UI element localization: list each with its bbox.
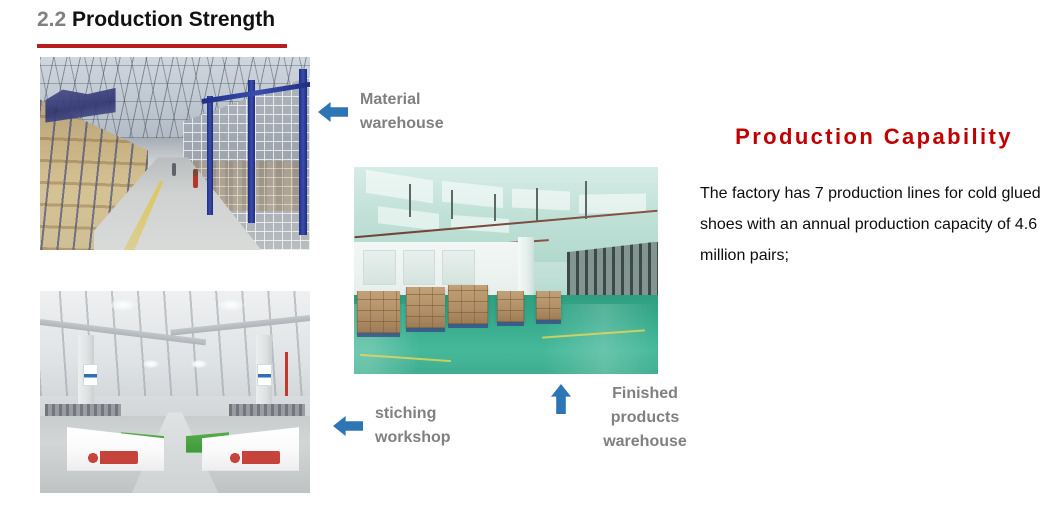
ceiling-hanger-2 (451, 190, 453, 219)
aisle-sign-left (83, 364, 98, 386)
stitching-workshop-photo (40, 291, 310, 493)
company-logo-right (228, 451, 280, 464)
page-title: 2.2 Production Strength (37, 6, 537, 34)
slide-header: 2.2 Production Strength (37, 6, 537, 34)
ceiling-hanger-3 (494, 194, 496, 221)
ceiling-coffer-4 (579, 193, 646, 213)
title-underline-rule (37, 44, 287, 48)
ceiling-hanger-1 (409, 184, 411, 217)
finished-warehouse-scene (354, 167, 658, 374)
arrow-up-icon (551, 384, 571, 414)
section-title: Production Strength (72, 8, 275, 31)
red-standpipe (285, 352, 288, 396)
ceiling-hanger-5 (585, 181, 587, 218)
finished-products-warehouse-photo (354, 167, 658, 374)
callout-finished-products-warehouse: Finished products warehouse (551, 382, 751, 454)
wall-window-3 (442, 250, 474, 285)
material-warehouse-photo (40, 57, 310, 250)
material-warehouse-scene (40, 57, 310, 250)
carton-stack-4 (497, 291, 524, 322)
rack-post-1 (207, 96, 213, 216)
wall-window-1 (363, 250, 395, 285)
section-number: 2.2 (37, 8, 66, 31)
ceiling-lamp-3 (143, 360, 159, 368)
arrow-left-icon (333, 416, 363, 436)
worker-figure-1 (193, 169, 198, 188)
callout-stitching-workshop-label: stiching workshop (375, 402, 485, 450)
callout-finished-products-warehouse-label: Finished products warehouse (589, 382, 701, 454)
capability-body-text: The factory has 7 production lines for c… (700, 178, 1048, 271)
callout-stitching-workshop: stiching workshop (333, 402, 513, 450)
callout-material-warehouse: Material warehouse (318, 88, 518, 136)
arrow-left-icon (318, 102, 348, 122)
worker-figure-2 (172, 163, 176, 176)
ceiling-coffer-3 (512, 188, 570, 210)
production-capability-panel: Production Capability The factory has 7 … (700, 122, 1048, 271)
wall-window-2 (403, 250, 435, 285)
ceiling-lamp-4 (191, 360, 207, 368)
ceiling-hanger-4 (536, 188, 538, 221)
capability-heading: Production Capability (700, 122, 1048, 152)
stitching-workshop-scene (40, 291, 310, 493)
aisle-sign-right (257, 364, 272, 386)
company-logo-left (86, 451, 138, 464)
carton-stack-1 (357, 291, 400, 332)
callout-material-warehouse-label: Material warehouse (360, 88, 480, 136)
rack-post-3 (299, 69, 307, 235)
carton-stack-3 (448, 285, 488, 324)
carton-stack-5 (536, 291, 560, 320)
rack-post-2 (248, 80, 255, 223)
carton-stack-2 (406, 287, 446, 328)
